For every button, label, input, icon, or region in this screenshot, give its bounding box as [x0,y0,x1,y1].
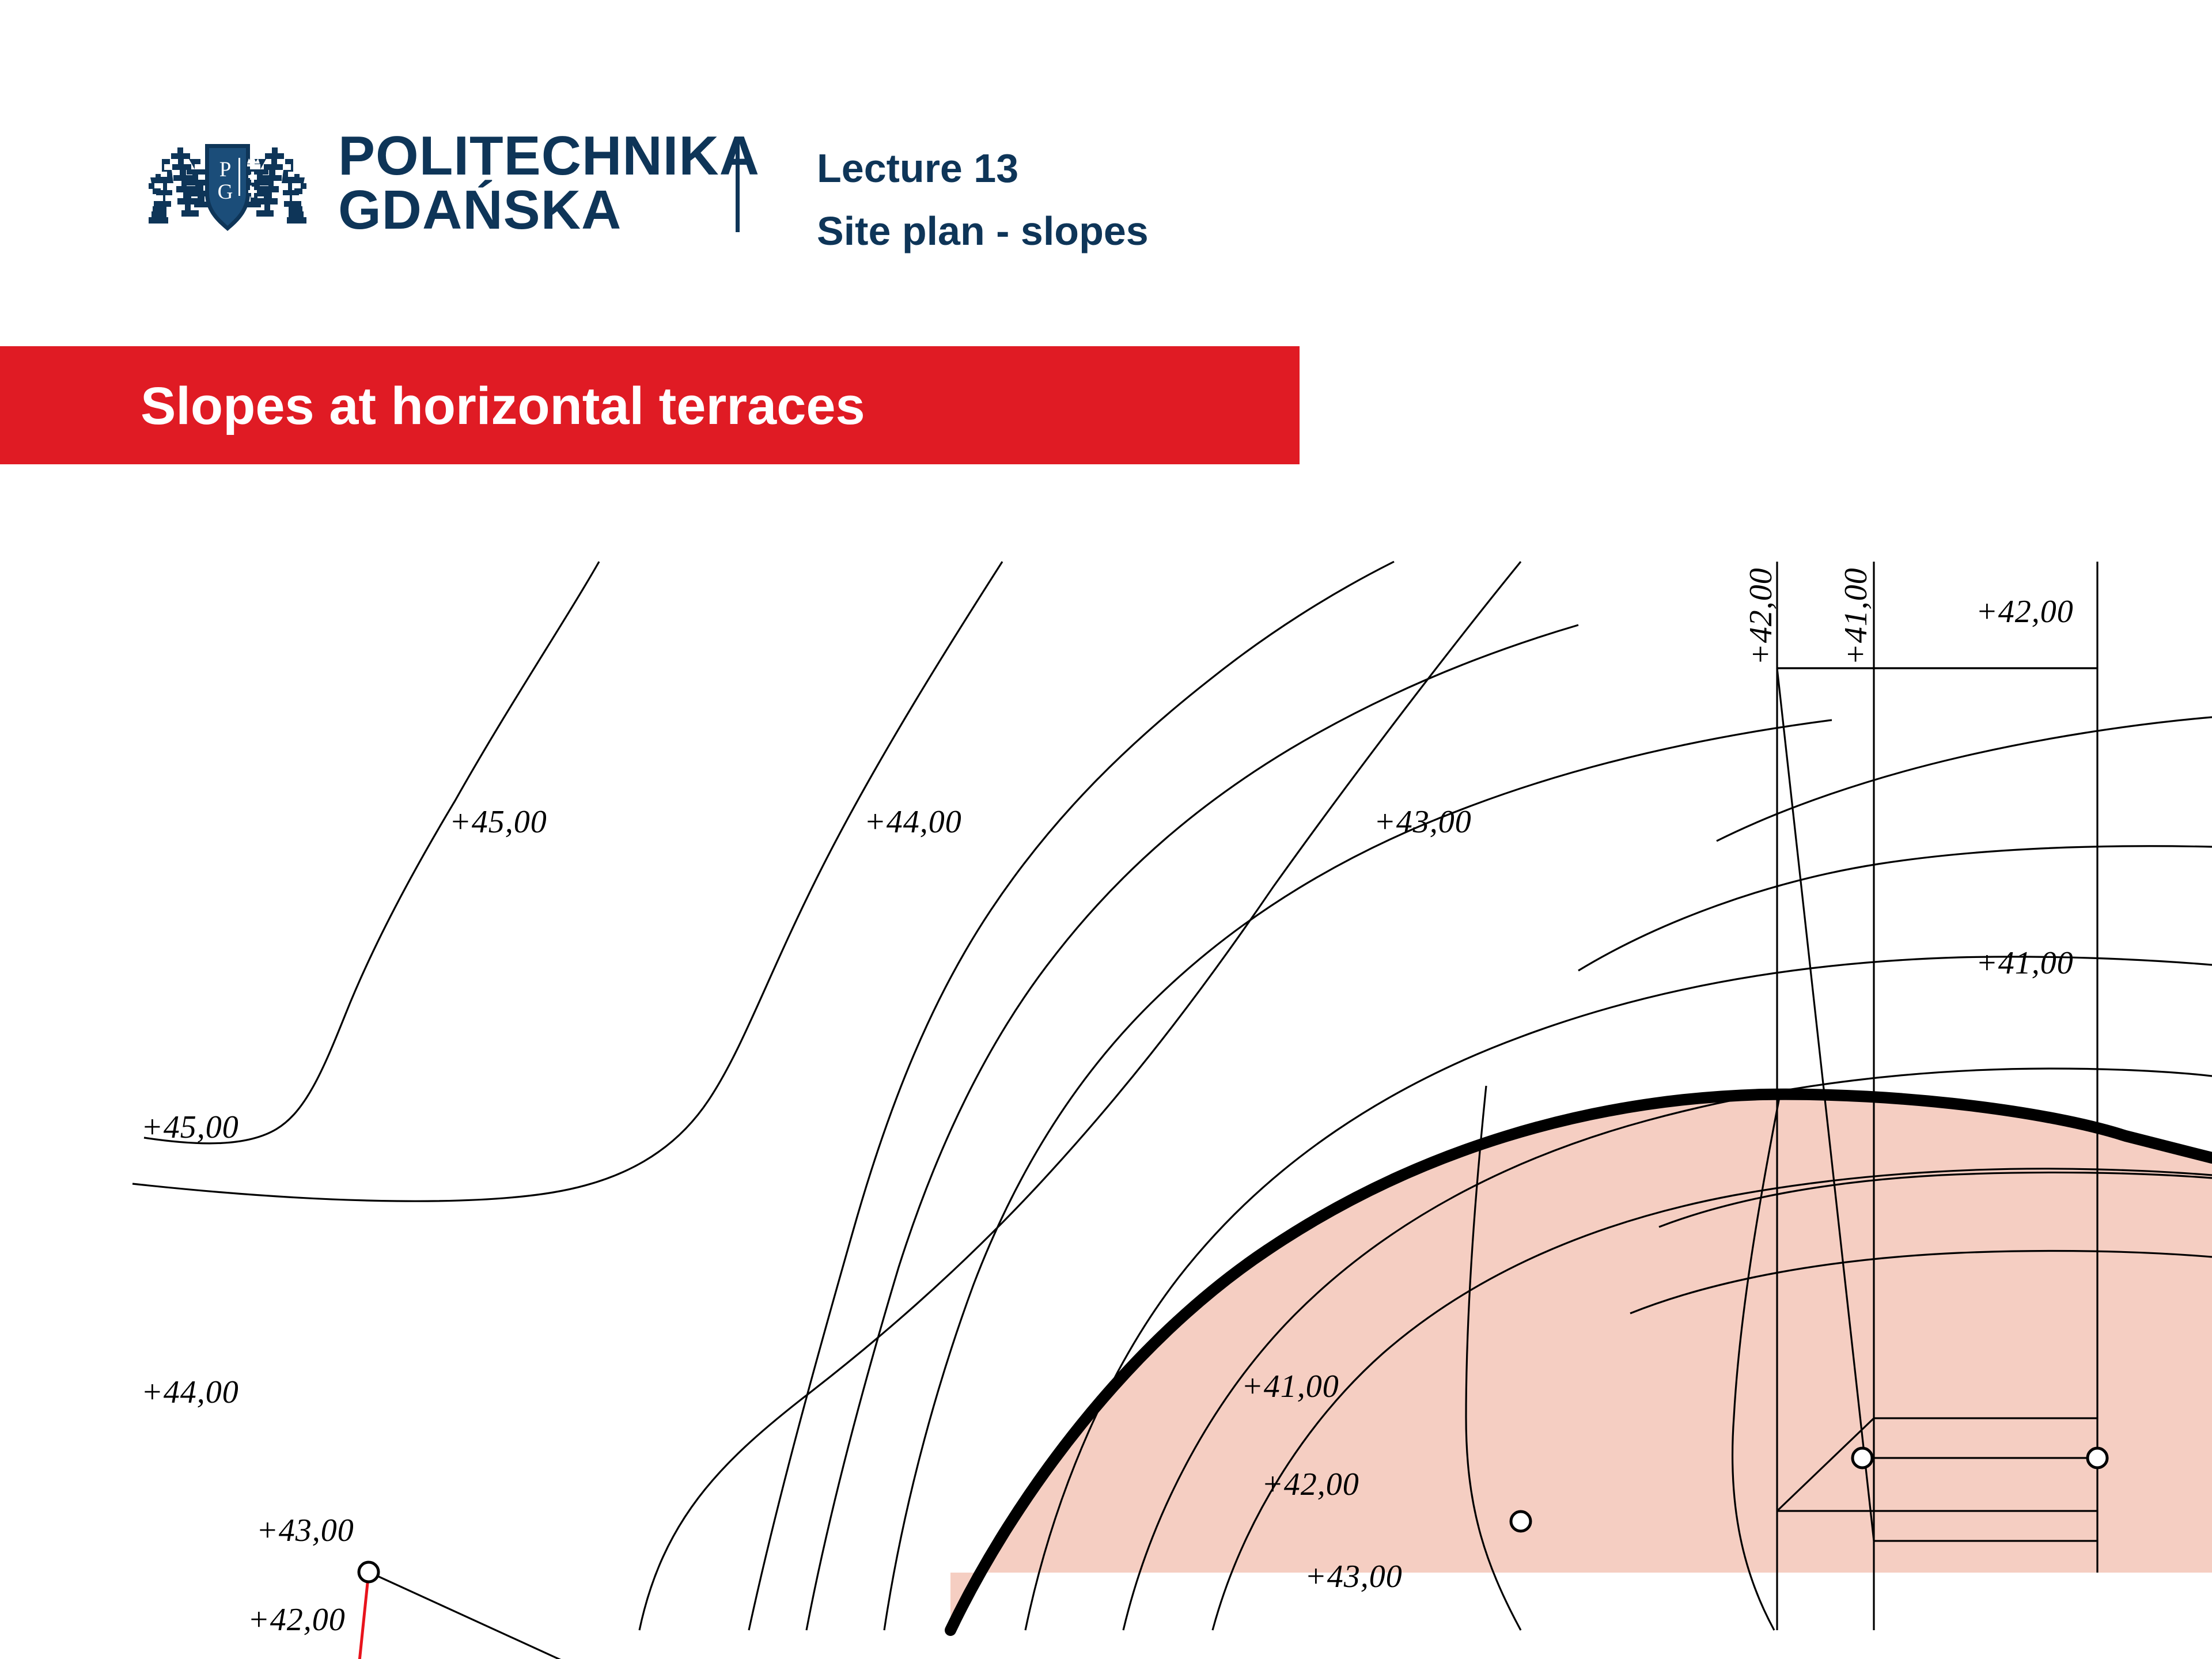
university-wordmark: POLITECHNIKA GDAŃSKA [338,129,760,237]
lecture-number: Lecture 13 [817,137,1149,200]
header-subtitle-block: Lecture 13 Site plan - slopes [817,137,1149,262]
wordmark-line-2: GDAŃSKA [338,183,760,237]
elevation-label-c43-upper: +43,00 [1374,804,1472,840]
wordmark-line-1: POLITECHNIKA [338,129,760,183]
elevation-label-c41-mid: +41,00 [1241,1369,1339,1404]
elevation-label-c42-mid: +42,00 [1262,1467,1359,1502]
lecture-topic: Site plan - slopes [817,200,1149,263]
elevation-label-c43-mid: +43,00 [1305,1559,1403,1594]
svg-text:P: P [219,158,232,181]
node-43-left [359,1562,378,1582]
vertical-divider-icon [736,142,740,232]
slope-line-vertical-left [350,1572,369,1659]
contour-right-upper-b [1717,717,2212,841]
pg-coat-of-arms-logo: P G [135,126,320,241]
elevation-label-c42-left: +42,00 [248,1602,346,1638]
university-logo-block: P G POLITECHNIKA GDAŃSKA [135,126,760,241]
slide-header: P G POLITECHNIKA GDAŃSKA Lecture 13 Site… [0,0,2212,323]
svg-text:G: G [218,180,233,204]
slide-title: Slopes at horizontal terraces [141,376,865,437]
elevation-label-c45-upper: +45,00 [449,804,547,840]
node-right-a [1853,1448,1872,1468]
contour-44-upper [132,562,1002,1201]
elevation-label-c45-left: +45,00 [141,1109,239,1145]
elevation-label-c44-upper: +44,00 [864,804,962,840]
elevation-label-c41-right: +41,00 [1976,945,2074,981]
elevation-label-c43-left: +43,00 [256,1513,354,1548]
elevation-label-c41-vertical: +41,00 [1838,567,1874,665]
site-plan-drawing: +45,00 +44,00 +43,00 +45,00 +44,00 +43,0… [0,518,2212,1659]
elevation-label-c42-right: +42,00 [1976,594,2074,630]
node-42-contour [1511,1512,1531,1531]
node-right-b [2088,1448,2107,1468]
elevation-label-c42-vertical: +42,00 [1743,567,1779,665]
elevation-label-c44-left: +44,00 [141,1374,239,1410]
contour-45-upper [144,562,599,1143]
contour-right-upper-a [1578,846,2212,971]
